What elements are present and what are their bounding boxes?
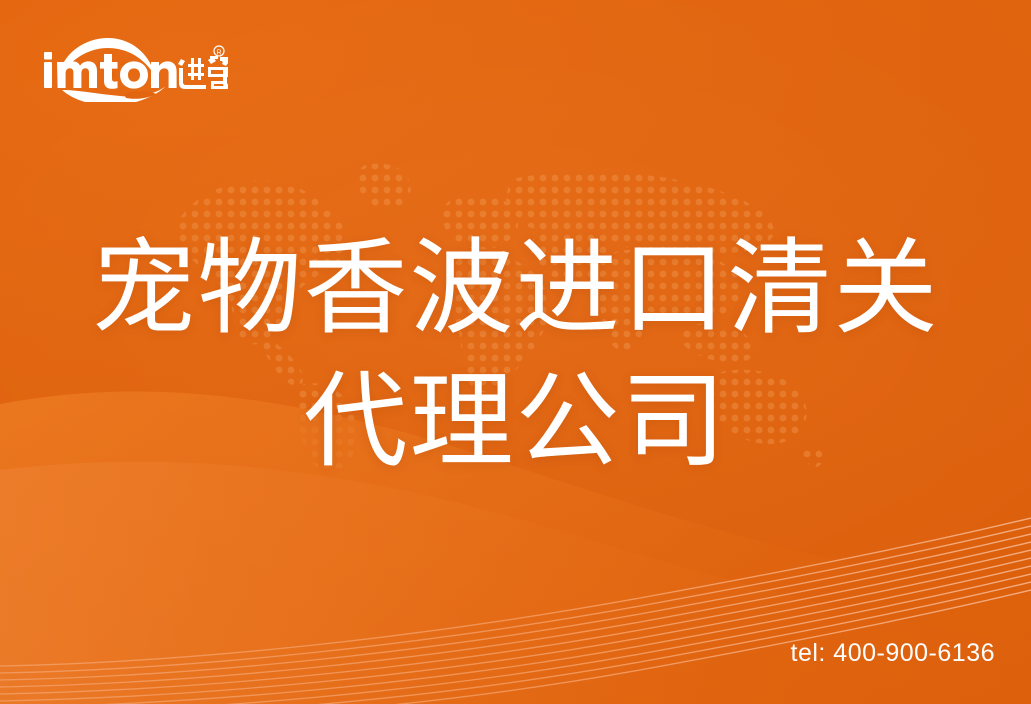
page-title: 宠物香波进口清关 代理公司 (0, 222, 1031, 488)
imton-logo[interactable]: R (38, 28, 228, 102)
thin-line-stripes (0, 518, 1031, 704)
logo-chinese-name (178, 56, 228, 89)
headline-line-1: 宠物香波进口清关 (0, 222, 1031, 355)
contact-phone: tel: 400-900-6136 (791, 639, 995, 668)
promo-banner: R 宠物香波进口清关 代理公司 tel: 400-900-6136 (0, 0, 1031, 704)
headline-line-2: 代理公司 (0, 355, 1031, 488)
svg-text:R: R (216, 50, 221, 57)
logo-wordmark (44, 52, 177, 89)
trademark-icon: R (214, 46, 224, 57)
